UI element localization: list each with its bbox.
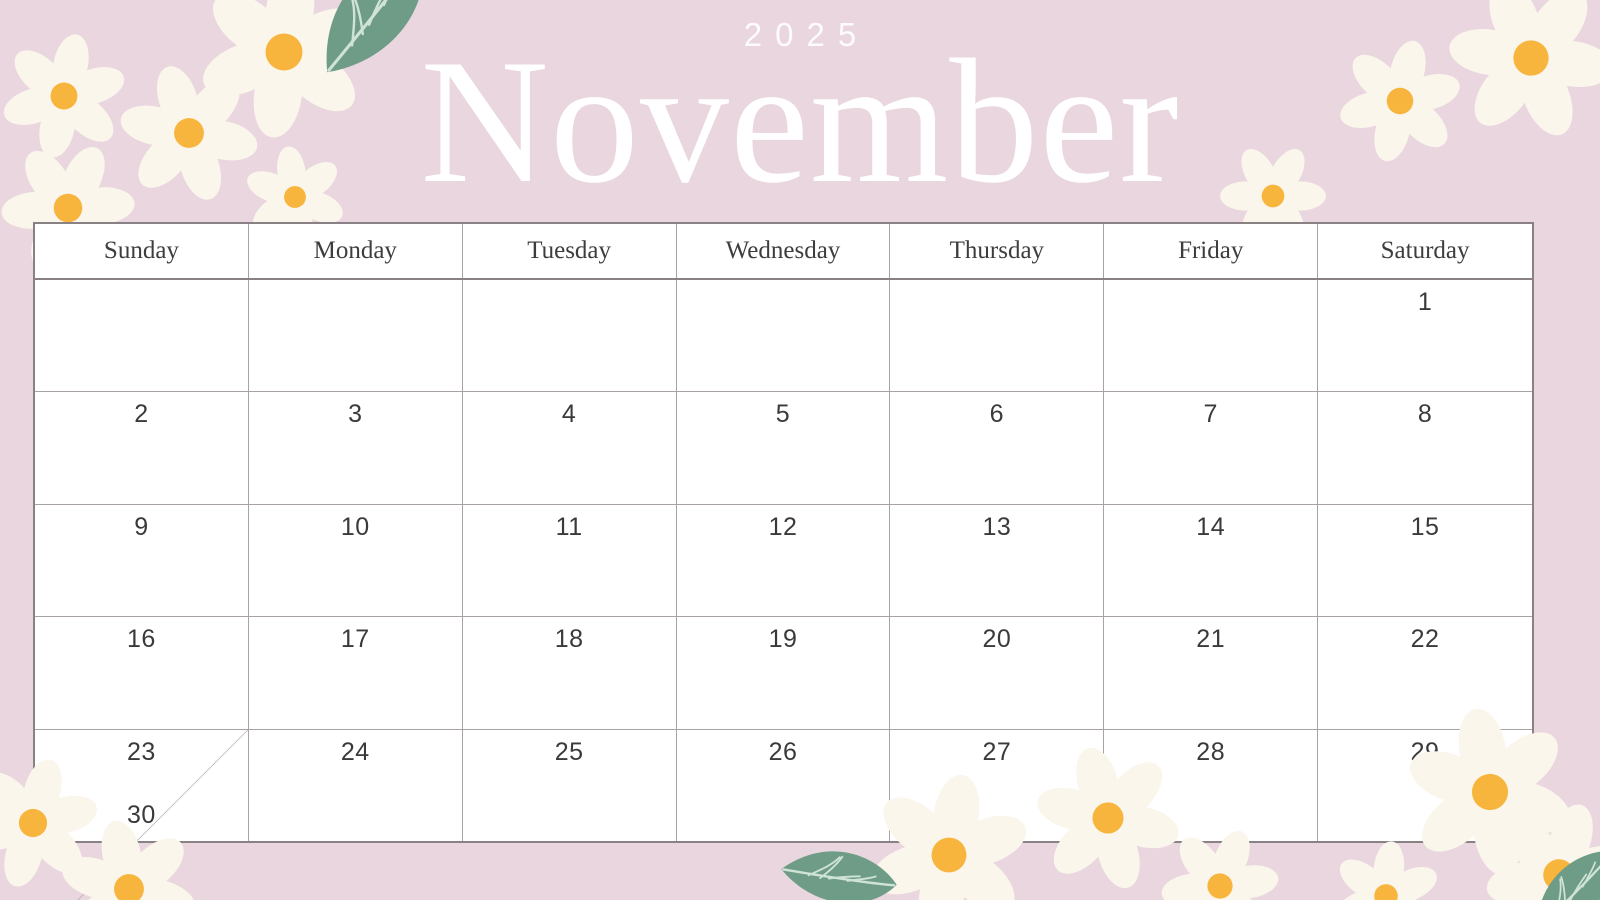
day-number-16: 16 (35, 626, 248, 654)
weekday-header-tuesday: Tuesday (463, 224, 677, 278)
week-row: 2345678 (35, 392, 1532, 504)
day-number-26: 26 (677, 739, 890, 767)
day-number-8: 8 (1318, 401, 1532, 429)
day-cell-2[interactable]: 2 (35, 392, 249, 503)
day-number-4: 4 (463, 401, 676, 429)
day-number-1: 1 (1318, 289, 1532, 317)
day-cell-9[interactable]: 9 (35, 505, 249, 616)
week-row: 16171819202122 (35, 617, 1532, 729)
day-number-23: 23 (127, 738, 156, 766)
calendar-page: 2025 November SundayMondayTuesdayWednesd… (0, 0, 1600, 900)
day-number-3: 3 (249, 401, 462, 429)
day-cell-25[interactable]: 25 (463, 730, 677, 841)
flower-top-right-2-icon (1422, 0, 1600, 167)
calendar-weeks: 1234567891011121314151617181920212223302… (35, 280, 1532, 841)
day-number-28: 28 (1104, 739, 1317, 767)
day-number-27: 27 (890, 739, 1103, 767)
day-number-18: 18 (463, 626, 676, 654)
leaf-top-center-icon (287, 0, 461, 86)
day-number-20: 20 (890, 626, 1103, 654)
day-number-13: 13 (890, 514, 1103, 542)
day-number-6: 6 (890, 401, 1103, 429)
leaf-bottom-right-icon (1512, 841, 1600, 900)
day-number-22: 22 (1318, 626, 1532, 654)
day-cell-15[interactable]: 15 (1318, 505, 1532, 616)
day-number-25: 25 (463, 739, 676, 767)
flower-top-left-1-icon (0, 20, 140, 172)
weekday-header-saturday: Saturday (1318, 224, 1532, 278)
day-cell-10[interactable]: 10 (249, 505, 463, 616)
day-cell-17[interactable]: 17 (249, 617, 463, 728)
day-cell-4[interactable]: 4 (463, 392, 677, 503)
week-row: 1 (35, 280, 1532, 392)
day-number-5: 5 (677, 401, 890, 429)
day-cell-empty[interactable] (677, 280, 891, 391)
day-cell-21[interactable]: 21 (1104, 617, 1318, 728)
day-number-9: 9 (35, 514, 248, 542)
day-number-29: 29 (1318, 739, 1532, 767)
day-cell-18[interactable]: 18 (463, 617, 677, 728)
day-number-21: 21 (1104, 626, 1317, 654)
week-row: 9101112131415 (35, 505, 1532, 617)
day-cell-1[interactable]: 1 (1318, 280, 1532, 391)
day-number-2: 2 (35, 401, 248, 429)
day-cell-14[interactable]: 14 (1104, 505, 1318, 616)
flower-top-left-2-icon (100, 44, 279, 223)
day-cell-empty[interactable] (463, 280, 677, 391)
day-cell-empty[interactable] (249, 280, 463, 391)
day-number-24: 24 (249, 739, 462, 767)
day-number-12: 12 (677, 514, 890, 542)
week-row: 2330242526272829 (35, 730, 1532, 841)
day-number-30: 30 (127, 801, 156, 829)
day-cell-13[interactable]: 13 (890, 505, 1104, 616)
day-number-15: 15 (1318, 514, 1532, 542)
day-cell-11[interactable]: 11 (463, 505, 677, 616)
day-cell-23[interactable]: 2330 (35, 730, 249, 841)
day-cell-29[interactable]: 29 (1318, 730, 1532, 841)
weekday-header-row: SundayMondayTuesdayWednesdayThursdayFrid… (35, 224, 1532, 280)
day-cell-12[interactable]: 12 (677, 505, 891, 616)
weekday-header-friday: Friday (1104, 224, 1318, 278)
day-number-19: 19 (677, 626, 890, 654)
day-cell-28[interactable]: 28 (1104, 730, 1318, 841)
day-cell-22[interactable]: 22 (1318, 617, 1532, 728)
weekday-header-thursday: Thursday (890, 224, 1104, 278)
day-number-17: 17 (249, 626, 462, 654)
day-cell-20[interactable]: 20 (890, 617, 1104, 728)
weekday-header-monday: Monday (249, 224, 463, 278)
flower-top-center-1-icon (185, 0, 384, 151)
day-cell-26[interactable]: 26 (677, 730, 891, 841)
day-cell-empty[interactable] (35, 280, 249, 391)
day-number-14: 14 (1104, 514, 1317, 542)
day-cell-24[interactable]: 24 (249, 730, 463, 841)
day-cell-16[interactable]: 16 (35, 617, 249, 728)
day-cell-3[interactable]: 3 (249, 392, 463, 503)
year-label: 2025 (13, 18, 1600, 51)
day-cell-empty[interactable] (1104, 280, 1318, 391)
month-label: November (0, 45, 1600, 198)
day-number-10: 10 (249, 514, 462, 542)
day-cell-19[interactable]: 19 (677, 617, 891, 728)
day-cell-6[interactable]: 6 (890, 392, 1104, 503)
day-cell-7[interactable]: 7 (1104, 392, 1318, 503)
day-number-11: 11 (463, 514, 676, 542)
day-cell-empty[interactable] (890, 280, 1104, 391)
day-cell-27[interactable]: 27 (890, 730, 1104, 841)
day-cell-8[interactable]: 8 (1318, 392, 1532, 503)
flower-bottom-right-3-icon (1324, 834, 1447, 900)
day-cell-5[interactable]: 5 (677, 392, 891, 503)
day-number-7: 7 (1104, 401, 1317, 429)
calendar-title: 2025 November (0, 18, 1600, 198)
calendar-grid: SundayMondayTuesdayWednesdayThursdayFrid… (33, 222, 1534, 843)
weekday-header-wednesday: Wednesday (677, 224, 891, 278)
weekday-header-sunday: Sunday (35, 224, 249, 278)
flower-top-right-1-icon (1324, 25, 1477, 178)
